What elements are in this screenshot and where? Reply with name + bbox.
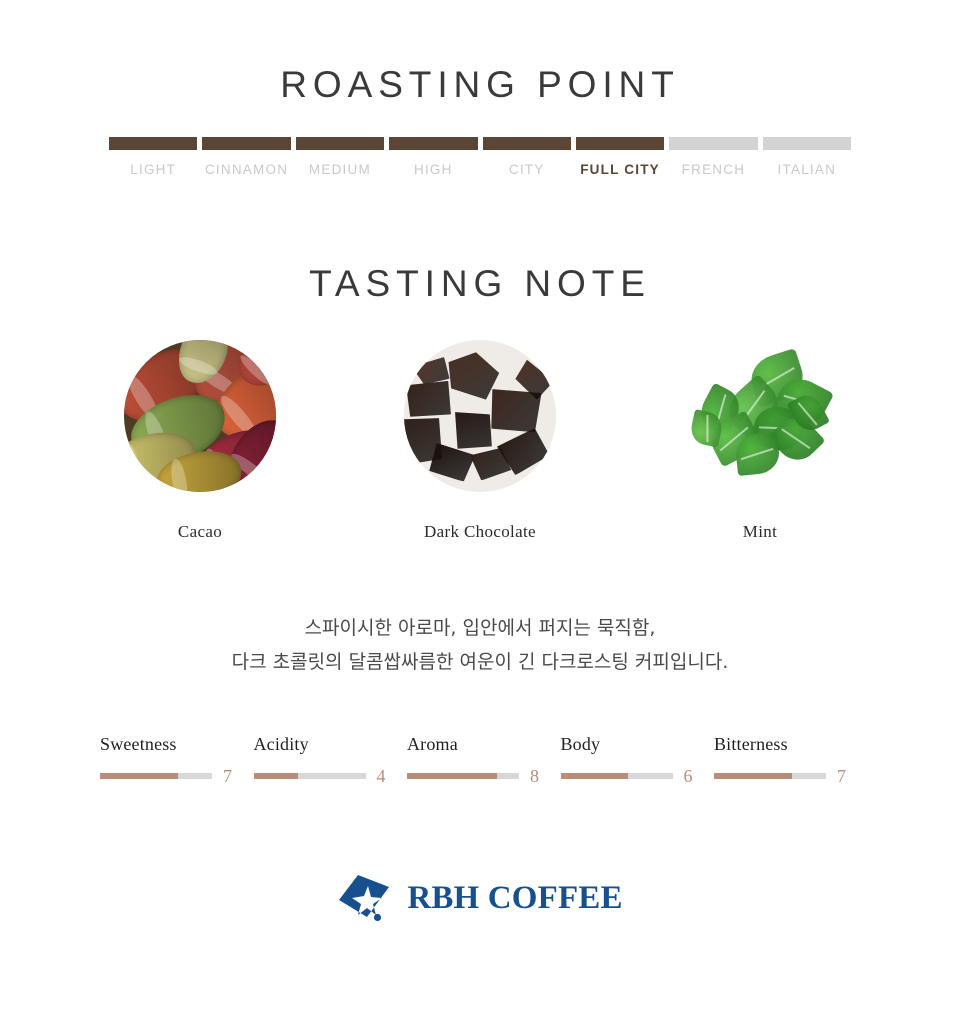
tasting-note-caption: Cacao <box>178 522 222 542</box>
roast-step-bar <box>763 137 851 150</box>
roast-step-bar <box>389 137 477 150</box>
rating-value: 7 <box>223 766 232 787</box>
diamond-star-logo-icon <box>337 873 393 925</box>
roast-step-french[interactable]: FRENCH <box>669 137 757 177</box>
roasting-point-title: ROASTING POINT <box>0 66 960 103</box>
rating-bitterness: Bitterness7 <box>714 734 860 787</box>
rating-fill <box>407 773 497 779</box>
brand-name: RBH COFFEE <box>407 880 622 917</box>
roast-step-label: ITALIAN <box>778 162 837 177</box>
roast-step-high[interactable]: HIGH <box>389 137 477 177</box>
cacao-pods-illustration <box>124 340 276 492</box>
rating-value: 6 <box>684 766 693 787</box>
rating-meter: 7 <box>100 766 246 787</box>
roast-step-bar <box>202 137 290 150</box>
roast-step-full-city[interactable]: FULL CITY <box>576 137 664 177</box>
mint-leaves-photo <box>684 340 836 492</box>
roast-step-label: HIGH <box>414 162 453 177</box>
tasting-description-line-1: 스파이시한 아로마, 입안에서 퍼지는 묵직함, <box>0 612 960 646</box>
roast-step-medium[interactable]: MEDIUM <box>296 137 384 177</box>
rating-track <box>714 773 826 779</box>
rating-value: 8 <box>530 766 539 787</box>
rating-meter: 8 <box>407 766 553 787</box>
chocolate-chunk <box>429 443 477 483</box>
roast-step-label: FULL CITY <box>580 162 660 177</box>
cacao-pods-photo <box>124 340 276 492</box>
rating-value: 4 <box>377 766 386 787</box>
roast-step-label: FRENCH <box>682 162 746 177</box>
rating-label: Bitterness <box>714 734 860 755</box>
rating-track <box>561 773 673 779</box>
tasting-note-dark-chocolate: Dark Chocolate <box>360 340 600 542</box>
rating-label: Acidity <box>254 734 400 755</box>
rating-track <box>407 773 519 779</box>
tasting-note-caption: Dark Chocolate <box>424 522 536 542</box>
rating-value: 7 <box>837 766 846 787</box>
mint-leaves-illustration <box>684 340 836 492</box>
roast-step-label: CITY <box>509 162 545 177</box>
rating-sweetness: Sweetness7 <box>100 734 246 787</box>
rating-label: Aroma <box>407 734 553 755</box>
roast-step-cinnamon[interactable]: CINNAMON <box>202 137 290 177</box>
dark-chocolate-chunks-photo <box>404 340 556 492</box>
tasting-description: 스파이시한 아로마, 입안에서 퍼지는 묵직함, 다크 초콜릿의 달콤쌉싸름한 … <box>0 612 960 680</box>
dark-chocolate-illustration <box>404 340 556 492</box>
tasting-note-cacao: Cacao <box>80 340 320 542</box>
roast-step-label: MEDIUM <box>309 162 371 177</box>
rating-label: Body <box>561 734 707 755</box>
rating-track <box>100 773 212 779</box>
roast-step-light[interactable]: LIGHT <box>109 137 197 177</box>
rating-meter: 6 <box>561 766 707 787</box>
rating-meter: 4 <box>254 766 400 787</box>
tasting-notes-row: CacaoDark ChocolateMint <box>80 340 880 542</box>
roast-step-bar <box>669 137 757 150</box>
rating-fill <box>561 773 628 779</box>
tasting-note-title: TASTING NOTE <box>0 265 960 302</box>
roast-step-bar <box>483 137 571 150</box>
rating-meter: 7 <box>714 766 860 787</box>
tasting-note-caption: Mint <box>743 522 777 542</box>
flavor-ratings: Sweetness7Acidity4Aroma8Body6Bitterness7 <box>100 734 860 787</box>
brand-logo: RBH COFFEE <box>0 873 960 925</box>
roast-step-bar <box>109 137 197 150</box>
rating-label: Sweetness <box>100 734 246 755</box>
roast-step-bar <box>576 137 664 150</box>
rating-body: Body6 <box>561 734 707 787</box>
tasting-note-mint: Mint <box>640 340 880 542</box>
rating-aroma: Aroma8 <box>407 734 553 787</box>
rating-acidity: Acidity4 <box>254 734 400 787</box>
roasting-point-scale: LIGHTCINNAMONMEDIUMHIGHCITYFULL CITYFREN… <box>109 103 851 177</box>
rating-track <box>254 773 366 779</box>
roast-step-italian[interactable]: ITALIAN <box>763 137 851 177</box>
roast-step-label: LIGHT <box>130 162 176 177</box>
rating-fill <box>254 773 299 779</box>
rating-fill <box>714 773 792 779</box>
roast-step-bar <box>296 137 384 150</box>
roast-step-city[interactable]: CITY <box>483 137 571 177</box>
tasting-description-line-2: 다크 초콜릿의 달콤쌉싸름한 여운이 긴 다크로스팅 커피입니다. <box>0 646 960 680</box>
rating-fill <box>100 773 178 779</box>
roast-step-label: CINNAMON <box>205 162 288 177</box>
